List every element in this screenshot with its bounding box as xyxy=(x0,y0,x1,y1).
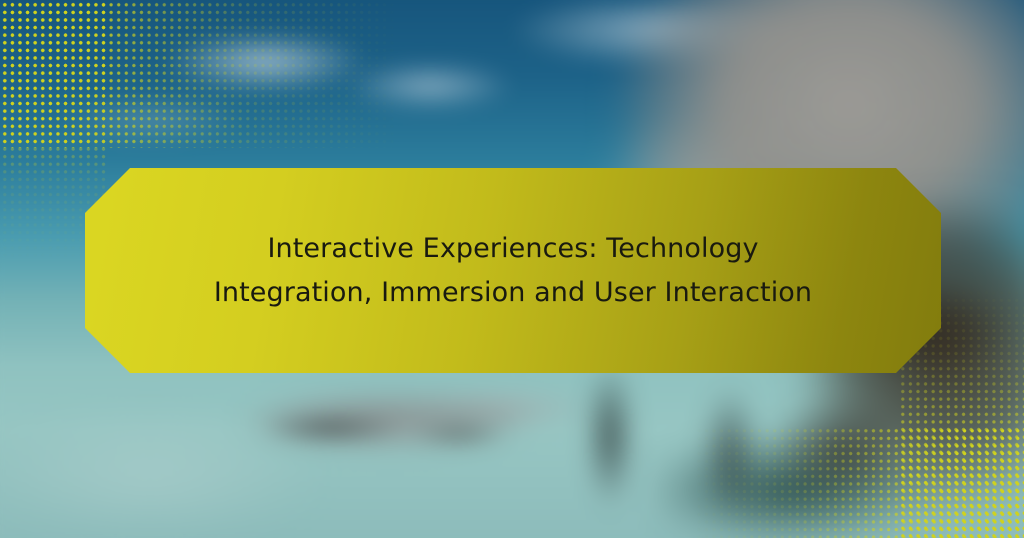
page-title-line-2: Integration, Immersion and User Interact… xyxy=(214,277,812,308)
page-title: Interactive Experiences: Technology Inte… xyxy=(130,227,896,315)
page-title-line-1: Interactive Experiences: Technology xyxy=(267,233,758,264)
banner-canvas: Interactive Experiences: Technology Inte… xyxy=(0,0,1024,538)
background-dock-shadow xyxy=(250,398,550,468)
title-banner-plate: Interactive Experiences: Technology Inte… xyxy=(85,168,941,373)
